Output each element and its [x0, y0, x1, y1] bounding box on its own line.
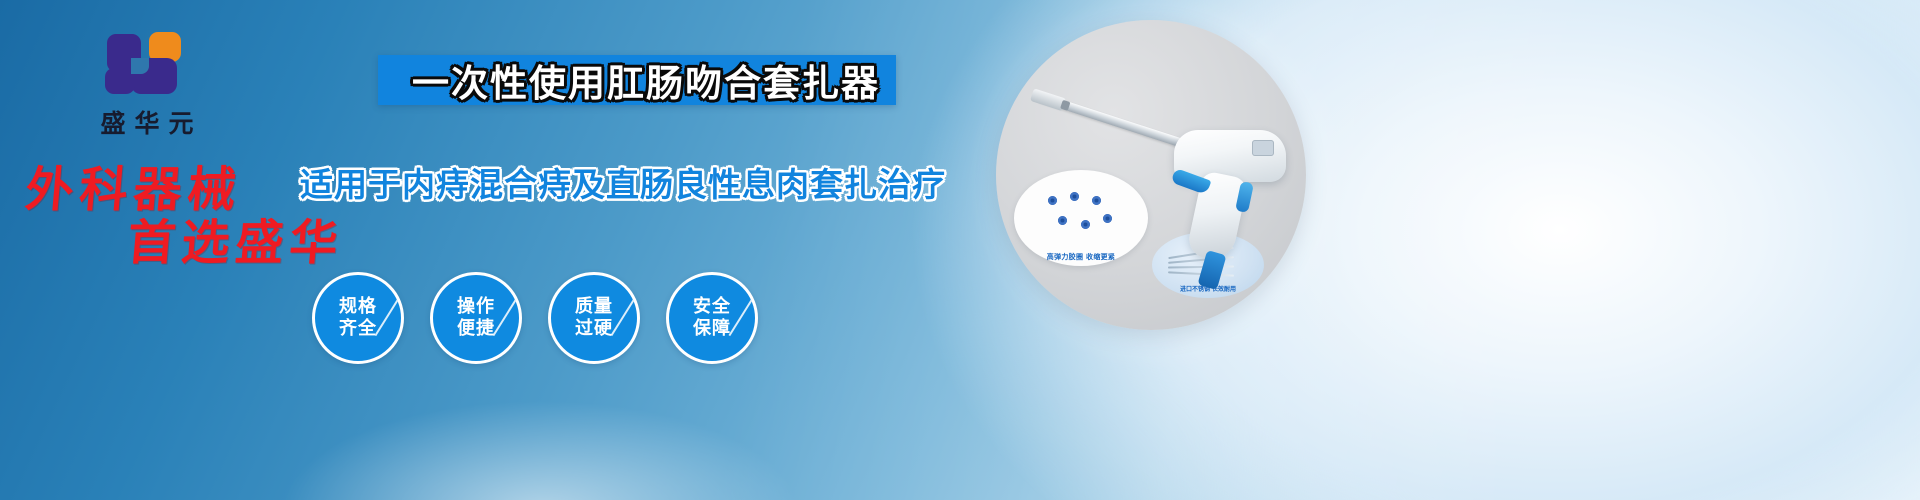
- feature-1-line2: 齐全: [339, 318, 377, 340]
- ligation-device-icon: [1026, 82, 1286, 282]
- slash-decor-icon: [492, 298, 517, 336]
- product-photo-disc: 高弹力胶圈 收缩更紧 进口不锈钢 长效耐用: [996, 20, 1306, 330]
- feature-circle-2[interactable]: 操作 便捷: [430, 272, 522, 364]
- slash-decor-icon: [374, 298, 399, 336]
- calligraphy-line-2: 首选盛华: [125, 203, 347, 273]
- background-bottom-glow: [280, 400, 800, 500]
- product-photo: 高弹力胶圈 收缩更紧 进口不锈钢 长效耐用: [996, 20, 1306, 330]
- shenghuayuan-blocks-logo-icon: [101, 28, 193, 98]
- page-subtitle: 适用于内痔混合痔及直肠良性息肉套扎治疗: [300, 158, 900, 206]
- slash-decor-icon: [610, 298, 635, 336]
- feature-4-line2: 保障: [693, 318, 731, 340]
- brand-logo: 盛华元: [62, 28, 232, 140]
- brand-name: 盛华元: [62, 104, 232, 140]
- feature-3-line2: 过硬: [575, 318, 613, 340]
- page-title: 一次性使用肛肠吻合套扎器: [396, 52, 896, 108]
- logo-notch: [131, 58, 149, 74]
- feature-circle-list: 规格 齐全 操作 便捷 质量 过硬 安全 保障: [312, 272, 892, 372]
- feature-4-line1: 安全: [693, 296, 731, 318]
- feature-circle-4[interactable]: 安全 保障: [666, 272, 758, 364]
- device-tip: [1030, 88, 1066, 111]
- device-teal-inset: [1218, 310, 1306, 330]
- feature-1-line1: 规格: [339, 296, 377, 318]
- feature-2-line2: 便捷: [457, 318, 495, 340]
- feature-2-line1: 操作: [457, 296, 495, 318]
- feature-3-line1: 质量: [575, 296, 613, 318]
- feature-circle-3[interactable]: 质量 过硬: [548, 272, 640, 364]
- slash-decor-icon: [728, 298, 753, 336]
- feature-circle-1[interactable]: 规格 齐全: [312, 272, 404, 364]
